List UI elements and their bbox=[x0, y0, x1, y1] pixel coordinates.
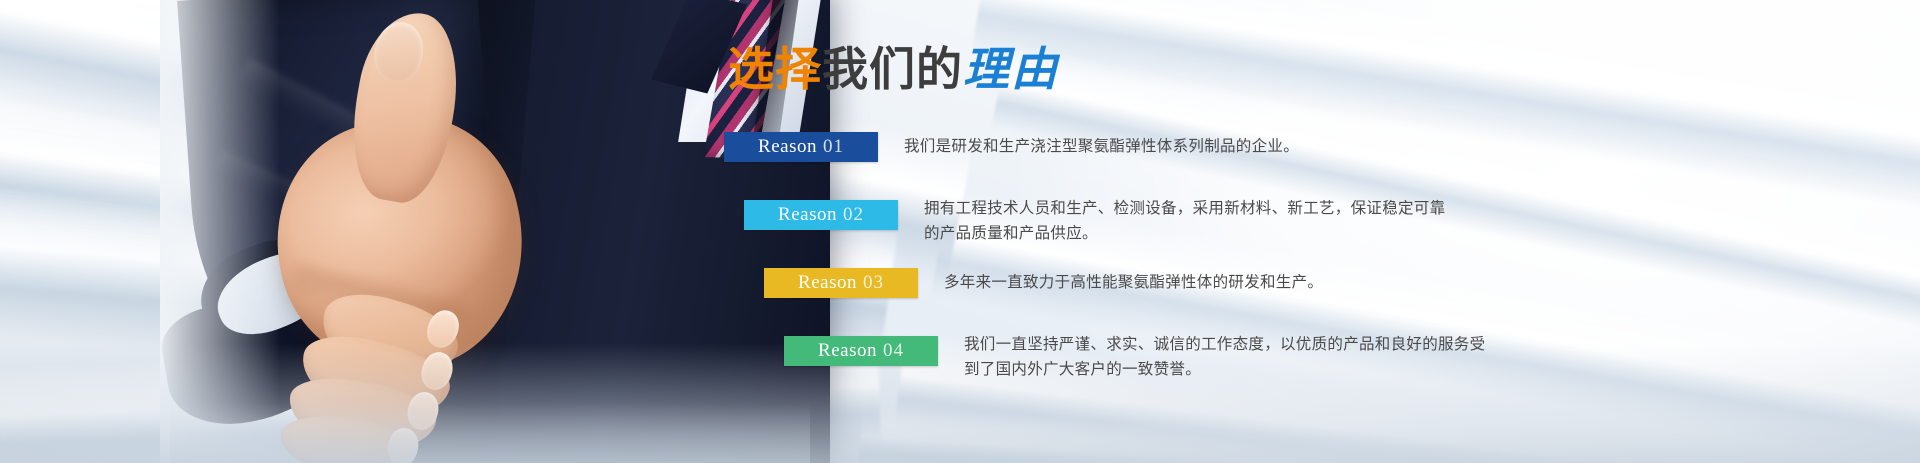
reason-badge-number-4: 04 bbox=[883, 340, 904, 362]
reason-badge-label-3: Reason bbox=[798, 272, 857, 294]
reason-item-1: Reason 01 我们是研发和生产浇注型聚氨酯弹性体系列制品的企业。 bbox=[0, 132, 1920, 180]
reason-badge-1[interactable]: Reason 01 bbox=[724, 132, 878, 162]
page-title-part-dark: 我们的 bbox=[822, 43, 963, 95]
reason-badge-label-1: Reason bbox=[758, 136, 817, 158]
reason-item-4: Reason 04 我们一直坚持严谨、求实、诚信的工作态度，以优质的产品和良好的… bbox=[0, 336, 1920, 384]
reason-badge-label-2: Reason bbox=[778, 204, 837, 226]
page-title-part-orange: 选择 bbox=[728, 43, 822, 95]
reason-badge-2[interactable]: Reason 02 bbox=[744, 200, 898, 230]
promo-banner: 选择我们的理由 Reason 01 我们是研发和生产浇注型聚氨酯弹性体系列制品的… bbox=[0, 0, 1920, 463]
reason-badge-4[interactable]: Reason 04 bbox=[784, 336, 938, 366]
reason-item-2: Reason 02 拥有工程技术人员和生产、检测设备，采用新材料、新工艺，保证稳… bbox=[0, 200, 1920, 248]
reason-text-2: 拥有工程技术人员和生产、检测设备，采用新材料、新工艺，保证稳定可靠的产品质量和产… bbox=[898, 196, 1458, 246]
page-title-part-blue: 理由 bbox=[963, 43, 1059, 95]
reason-badge-number-1: 01 bbox=[823, 136, 844, 158]
reason-badge-number-2: 02 bbox=[843, 204, 864, 226]
reason-badge-number-3: 03 bbox=[863, 272, 884, 294]
banner-content: 选择我们的理由 Reason 01 我们是研发和生产浇注型聚氨酯弹性体系列制品的… bbox=[0, 0, 1920, 463]
reason-text-1: 我们是研发和生产浇注型聚氨酯弹性体系列制品的企业。 bbox=[878, 132, 1299, 159]
reason-item-3: Reason 03 多年来一直致力于高性能聚氨酯弹性体的研发和生产。 bbox=[0, 268, 1920, 316]
reason-text-4: 我们一直坚持严谨、求实、诚信的工作态度，以优质的产品和良好的服务受到了国内外广大… bbox=[938, 332, 1498, 382]
page-title: 选择我们的理由 bbox=[728, 46, 1059, 92]
reason-badge-label-4: Reason bbox=[818, 340, 877, 362]
reason-list: Reason 01 我们是研发和生产浇注型聚氨酯弹性体系列制品的企业。 Reas… bbox=[0, 132, 1920, 404]
reason-text-3: 多年来一直致力于高性能聚氨酯弹性体的研发和生产。 bbox=[918, 268, 1323, 295]
reason-badge-3[interactable]: Reason 03 bbox=[764, 268, 918, 298]
